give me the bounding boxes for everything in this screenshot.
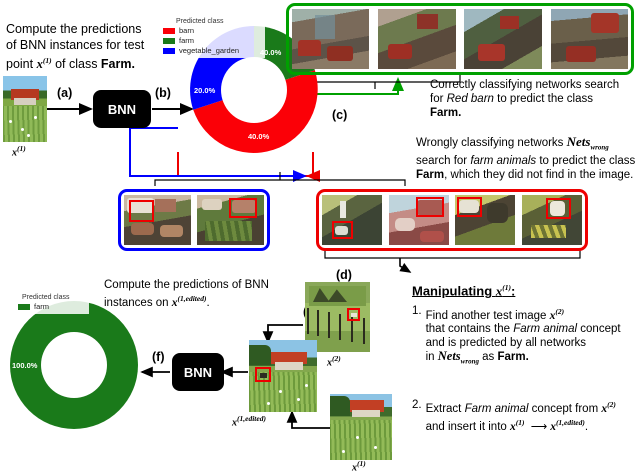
manipulation-heading: Manipulating x(1): (412, 283, 515, 299)
strip-red-wrong (316, 189, 588, 251)
step-label-f: (f) (152, 350, 165, 364)
bnn-box-bottom: BNN (172, 353, 224, 391)
viz-image (378, 9, 455, 69)
legend-swatch-veg (163, 48, 175, 54)
donut-chart-bottom: 100.0% (6, 297, 142, 433)
farm-animal-concept: Farm animal (513, 323, 577, 335)
donut-top-pct-veg: 20.0% (194, 86, 215, 95)
viz-image (551, 9, 628, 69)
viz-image (292, 9, 369, 69)
concept-highlight-box (129, 200, 153, 222)
step2-number: 2. (412, 398, 422, 434)
image-x1-edited (249, 340, 317, 412)
viz-image (389, 195, 449, 245)
intro-line3-a: point (6, 57, 37, 71)
concept-highlight-box (229, 198, 257, 218)
image-x1-edited-caption: x(1,edited) (232, 414, 266, 428)
annotation-wrong: Wrongly classifying networks Netswrong s… (416, 135, 640, 182)
red-barn-concept: Red barn (447, 93, 494, 105)
annotation-correct-line3: Farm. (430, 106, 640, 120)
step-label-b: (b) (155, 86, 171, 100)
strip-green-correct (286, 3, 634, 75)
farm-animal-concept-2: Farm animal (465, 403, 529, 415)
input-image-x1-caption: x(1) (12, 144, 26, 158)
viz-image (124, 195, 191, 245)
legend-row-farm: farm (163, 36, 261, 45)
legend-swatch-farm (163, 38, 175, 44)
legend-title-bottom: Predicted class (9, 294, 85, 301)
intro-x1-sup: (1) (43, 56, 52, 65)
image-x1-bottom-caption: x(1) (352, 459, 366, 473)
input-image-x1 (3, 76, 47, 142)
legend-row-veg: vegetable_garden (163, 46, 261, 55)
concept-highlight-box (546, 198, 571, 219)
donut-bottom-pct-farm: 100.0% (12, 361, 37, 370)
intro-line3-b: of class (52, 57, 101, 71)
donut-top-legend: Predicted class barn farm vegetable_gard… (160, 16, 265, 58)
legend-label-farm: farm (179, 36, 194, 45)
annotation-correct: Correctly classifying networks search fo… (430, 78, 640, 120)
donut-bottom-legend: Predicted class farm (6, 292, 89, 314)
intro-text: Compute the predictions of BNN instances… (6, 22, 156, 73)
annotation-wrong-line3: Farm, which they did not find in the ima… (416, 168, 640, 182)
intro-line-1: Compute the predictions (6, 22, 156, 38)
legend-row-barn: barn (163, 26, 261, 35)
compute-edited-line1: Compute the predictions of BNN (104, 278, 299, 292)
concept-highlight-box (457, 197, 482, 217)
image-x1-bottom (330, 394, 392, 460)
concept-highlight-box (332, 221, 354, 239)
step-label-d: (d) (336, 268, 352, 282)
donut-top-pct-barn: 40.0% (248, 132, 269, 141)
legend-row-farm-bottom: farm (9, 302, 85, 311)
bnn-box-top: BNN (93, 90, 151, 128)
annotation-wrong-line1: Wrongly classifying networks Netswrong (416, 135, 640, 154)
viz-image (322, 195, 382, 245)
farm-animals-concept: farm animals (470, 155, 536, 167)
viz-image (197, 195, 264, 245)
viz-image (522, 195, 582, 245)
strip-blue-vegetable (118, 189, 270, 251)
viz-image (455, 195, 515, 245)
intro-line-3: point x(1) of class Farm. (6, 53, 156, 73)
legend-label-farm-bottom: farm (34, 302, 49, 311)
image-x2-caption: x(2) (327, 354, 341, 368)
annotation-correct-line1: Correctly classifying networks search (430, 78, 640, 92)
legend-label-veg: vegetable_garden (179, 46, 239, 55)
inserted-concept-box (255, 367, 271, 382)
insert-arrow-icon: ⟶ (531, 421, 548, 433)
legend-label-barn: barn (179, 26, 194, 35)
intro-line-2: of BNN instances for test (6, 38, 156, 54)
annotation-correct-line2: for Red barn to predict the class (430, 92, 640, 106)
step-label-c: (c) (332, 108, 347, 122)
manipulation-step-2: 2. Extract Farm animal concept from x(2)… (412, 398, 640, 434)
nets-wrong-symbol: Nets (567, 134, 591, 149)
legend-title-top: Predicted class (163, 18, 261, 25)
viz-image (464, 9, 541, 69)
annotation-wrong-line2: search for farm animals to predict the c… (416, 154, 640, 168)
concept-highlight-box (416, 197, 444, 217)
legend-swatch-farm-bottom (18, 304, 30, 310)
legend-swatch-barn (163, 28, 175, 34)
step1-number: 1. (412, 305, 422, 369)
concept-highlight-box-x2 (347, 308, 360, 321)
intro-line3-farm: Farm. (101, 57, 135, 71)
step-label-a: (a) (57, 86, 72, 100)
manipulation-step-1: 1. Find another test image x(2) that con… (412, 305, 640, 369)
